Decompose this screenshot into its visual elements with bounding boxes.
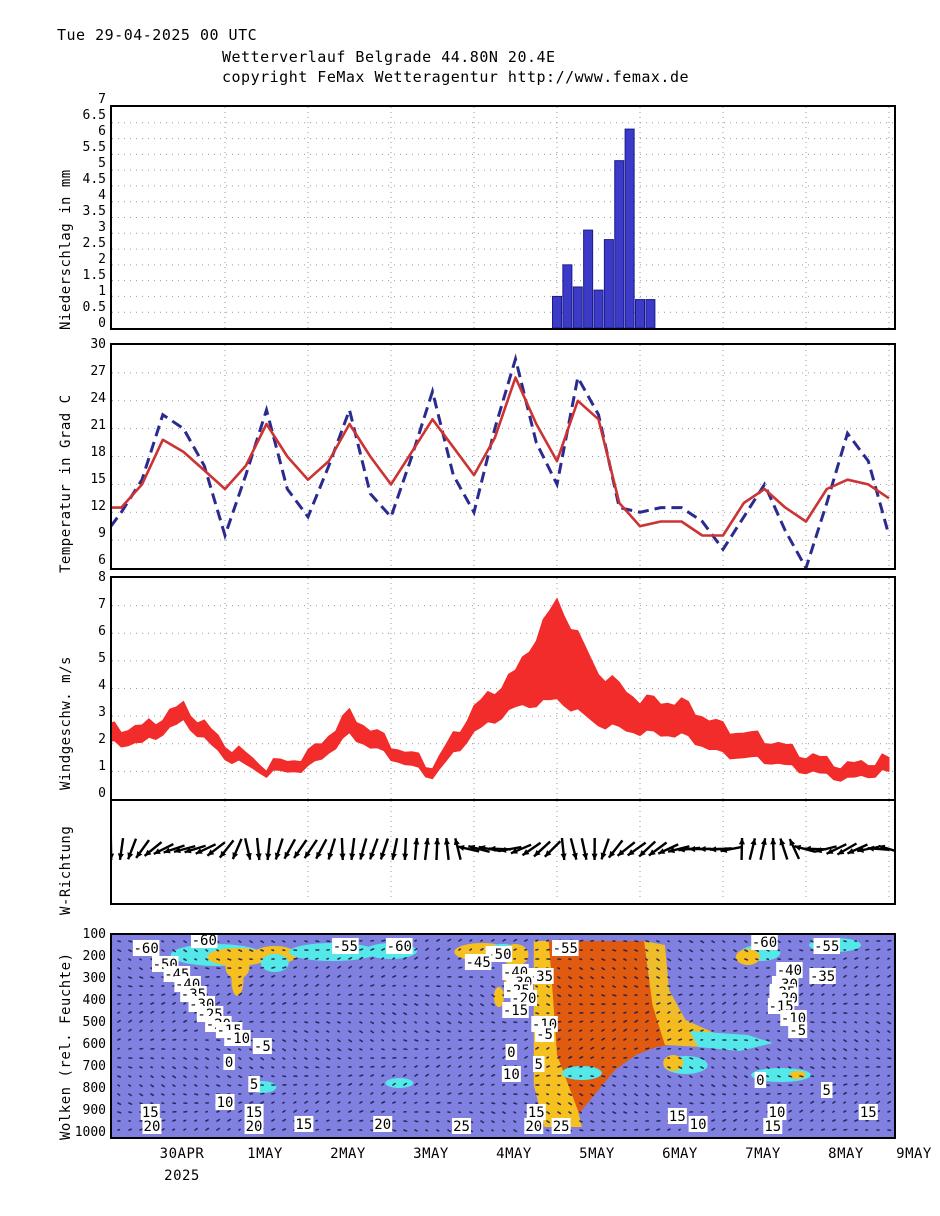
- x-label: 2MAY: [306, 1146, 390, 1162]
- ytick: 2: [98, 253, 106, 266]
- svg-text:-45: -45: [466, 955, 491, 971]
- ytick: 3: [98, 706, 106, 719]
- precip-ytick-column: 7 6.5 6 5.5 5 4.5 4 3.5 3 2.5 2 1.5 1 0.…: [60, 100, 106, 330]
- x-label: 4MAY: [472, 1146, 556, 1162]
- svg-text:-35: -35: [810, 969, 835, 985]
- ytick: 1.5: [83, 269, 106, 282]
- x-label: 30APR: [140, 1146, 224, 1162]
- ytick: 7: [98, 93, 106, 106]
- ytick: 400: [83, 994, 106, 1007]
- svg-text:0: 0: [225, 1055, 233, 1071]
- precipitation-panel: [110, 105, 896, 330]
- ytick: 18: [90, 446, 106, 459]
- svg-text:20: 20: [246, 1119, 263, 1135]
- svg-text:-60: -60: [134, 941, 159, 957]
- x-axis-year: 2025: [140, 1168, 224, 1184]
- svg-text:20: 20: [374, 1117, 391, 1133]
- x-label: 1MAY: [223, 1146, 307, 1162]
- svg-text:15: 15: [669, 1109, 686, 1125]
- copyright-line: copyright FeMax Wetteragentur http://www…: [222, 68, 689, 86]
- svg-text:5: 5: [823, 1083, 831, 1099]
- ytick: 5: [98, 157, 106, 170]
- svg-text:20: 20: [144, 1119, 161, 1135]
- svg-text:25: 25: [453, 1119, 470, 1135]
- ytick: 500: [83, 1016, 106, 1029]
- windspeed-panel: [110, 576, 896, 801]
- svg-text:20: 20: [525, 1119, 542, 1135]
- ytick: 3.5: [83, 205, 106, 218]
- ytick: 4: [98, 189, 106, 202]
- ytick: 6: [98, 625, 106, 638]
- svg-text:-55: -55: [814, 939, 839, 955]
- ytick: 900: [83, 1104, 106, 1117]
- x-label: 9MAY: [872, 1146, 940, 1162]
- svg-text:-60: -60: [752, 935, 777, 951]
- svg-text:0: 0: [756, 1073, 764, 1089]
- ytick: 0.5: [83, 301, 106, 314]
- x-label: 6MAY: [638, 1146, 722, 1162]
- x-label: 5MAY: [555, 1146, 639, 1162]
- ytick: 0: [98, 787, 106, 800]
- ytick: 12: [90, 500, 106, 513]
- ytick: 3: [98, 221, 106, 234]
- svg-text:-15: -15: [503, 1003, 528, 1019]
- ytick: 6: [98, 554, 106, 567]
- ytick: 1000: [75, 1126, 106, 1139]
- x-label: 7MAY: [721, 1146, 805, 1162]
- clouds-ytick-column: 100 200 300 400 500 600 700 800 900 1000: [38, 935, 106, 1137]
- svg-text:15: 15: [764, 1119, 781, 1135]
- temp-ytick-column: 30 27 24 21 18 15 12 9 6: [60, 345, 106, 570]
- ytick: 6: [98, 125, 106, 138]
- wind-ytick-column: 8 7 6 5 4 3 2 1 0: [60, 578, 106, 800]
- run-time: Tue 29-04-2025 00 UTC: [57, 26, 257, 44]
- x-label: 3MAY: [389, 1146, 473, 1162]
- ytick: 1: [98, 285, 106, 298]
- svg-text:-10: -10: [225, 1031, 250, 1047]
- ytick: 2: [98, 733, 106, 746]
- svg-text:-5: -5: [536, 1027, 553, 1043]
- ytick: 21: [90, 419, 106, 432]
- svg-text:5: 5: [535, 1057, 543, 1073]
- ytick: 8: [98, 571, 106, 584]
- winddir-axis-label: W-Richtung: [58, 826, 74, 915]
- ytick: 30: [90, 338, 106, 351]
- ytick: 200: [83, 950, 106, 963]
- clouds-panel: -60-60-55-60-55-60-55-50-45-40-35-30-25-…: [110, 933, 896, 1139]
- ytick: 9: [98, 527, 106, 540]
- ytick: 2.5: [83, 237, 106, 250]
- svg-text:15: 15: [295, 1117, 312, 1133]
- ytick: 5.5: [83, 141, 106, 154]
- page-title: Wetterverlauf Belgrade 44.80N 20.4E: [222, 48, 556, 66]
- svg-text:-60: -60: [192, 935, 217, 949]
- svg-text:10: 10: [503, 1067, 520, 1083]
- svg-text:10: 10: [690, 1117, 707, 1133]
- ytick: 15: [90, 473, 106, 486]
- ytick: 700: [83, 1060, 106, 1073]
- ytick: 0: [98, 317, 106, 330]
- ytick: 5: [98, 652, 106, 665]
- svg-text:-60: -60: [387, 939, 412, 955]
- ytick: 4: [98, 679, 106, 692]
- svg-text:25: 25: [553, 1119, 570, 1135]
- temperature-panel: [110, 343, 896, 570]
- ytick: 800: [83, 1082, 106, 1095]
- ytick: 4.5: [83, 173, 106, 186]
- ytick: 1: [98, 760, 106, 773]
- ytick: 6.5: [83, 109, 106, 122]
- svg-text:15: 15: [860, 1105, 877, 1121]
- svg-text:-55: -55: [333, 939, 358, 955]
- ytick: 24: [90, 392, 106, 405]
- ytick: 7: [98, 598, 106, 611]
- svg-text:5: 5: [250, 1077, 258, 1093]
- svg-text:0: 0: [507, 1045, 515, 1061]
- svg-text:-55: -55: [553, 941, 578, 957]
- winddirection-panel: [110, 801, 896, 905]
- svg-text:-5: -5: [789, 1023, 806, 1039]
- svg-text:-5: -5: [254, 1039, 271, 1055]
- ytick: 300: [83, 972, 106, 985]
- ytick: 27: [90, 365, 106, 378]
- ytick: 600: [83, 1038, 106, 1051]
- ytick: 100: [83, 928, 106, 941]
- svg-text:10: 10: [217, 1095, 234, 1111]
